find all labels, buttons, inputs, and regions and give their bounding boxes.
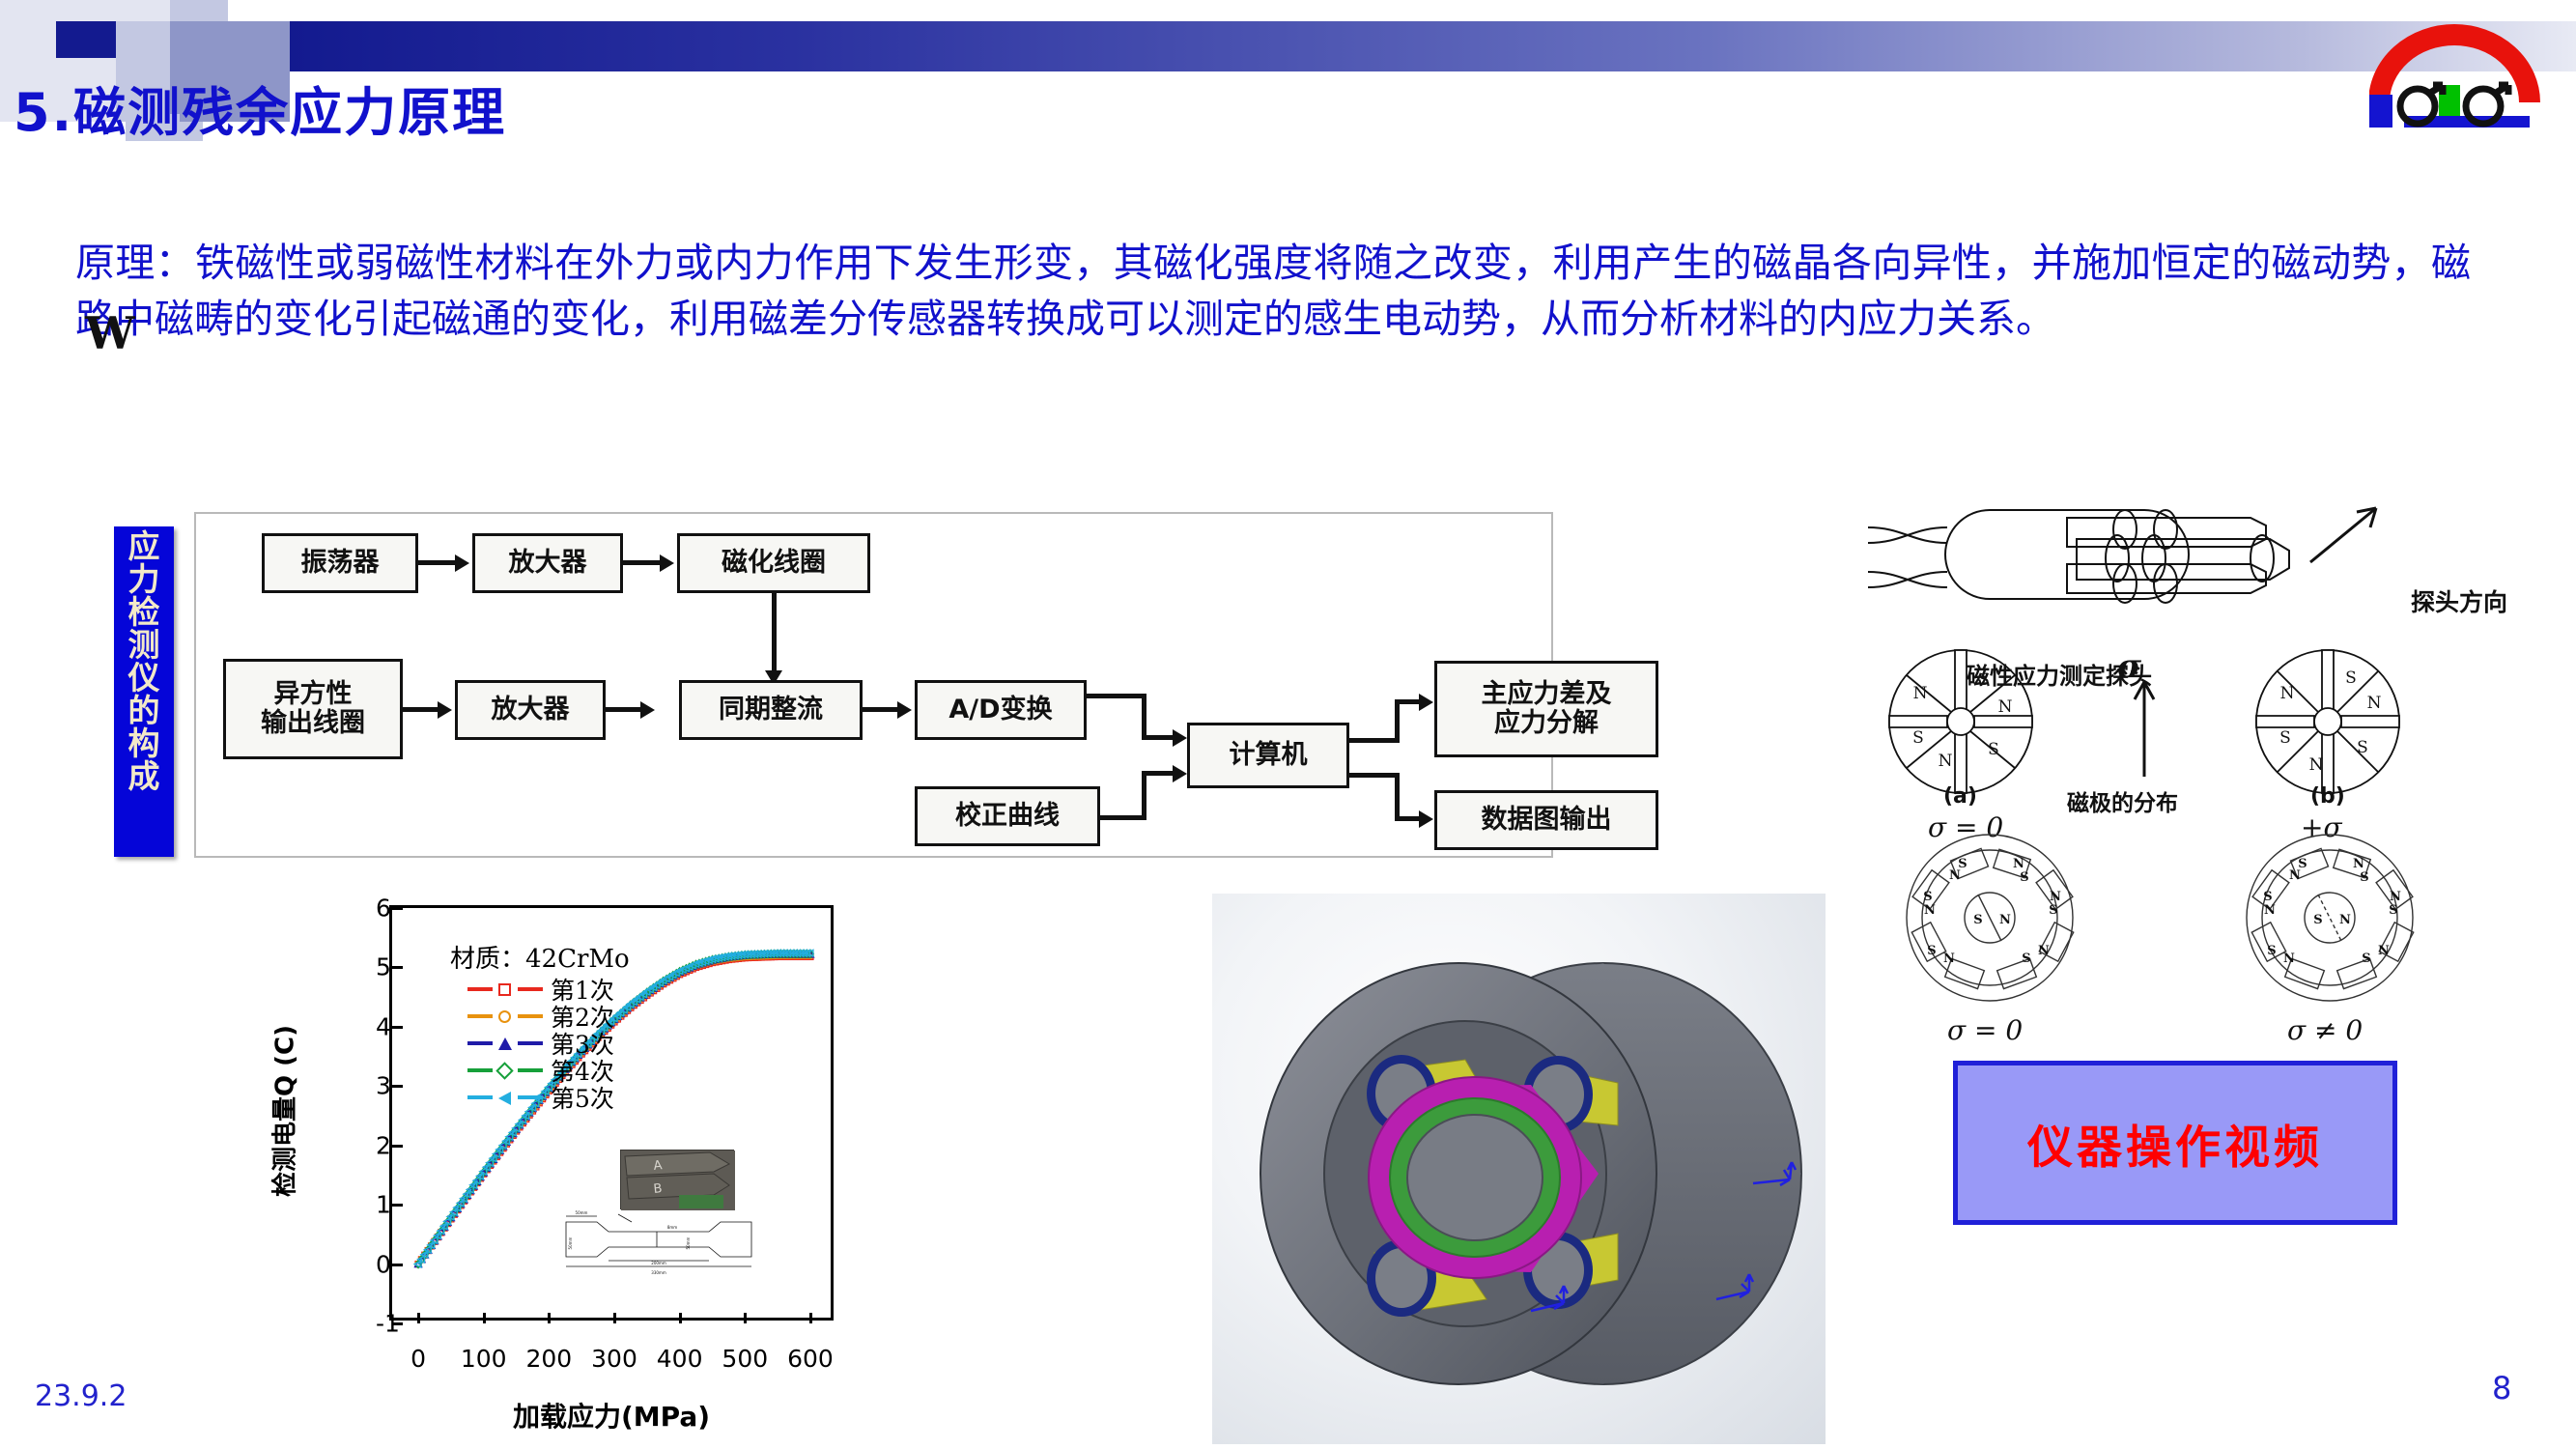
side-label-char-3: 测 xyxy=(114,629,174,662)
specimen-photo-svg: A B xyxy=(621,1151,735,1210)
connector-comp-to-output-v xyxy=(1395,773,1400,821)
arrow-amp2-to-rectifier xyxy=(640,701,655,719)
legend-key-2 xyxy=(467,1009,543,1023)
connector-amp1-to-coil xyxy=(623,560,662,565)
chart-y-tick-mark xyxy=(392,966,403,969)
footer-page-number: 8 xyxy=(2492,1370,2511,1406)
svg-text:N: N xyxy=(1924,903,1936,918)
side-label-char-0: 应 xyxy=(114,530,174,563)
svg-text:S: S xyxy=(2313,913,2322,927)
block-magnetizing-coil: 磁化线圈 xyxy=(677,533,870,593)
legend-marker-left-triangle-icon xyxy=(498,1092,511,1105)
magnetic-probe-illustrations: NSN SNS NSN SNS 探头方向 磁性应力测定探头 σ 磁极的分布 (a… xyxy=(1835,475,2569,862)
legend-key-1 xyxy=(467,982,543,996)
sigma-symbol: σ xyxy=(2117,647,2141,686)
connector-amp2-to-rectifier xyxy=(606,707,642,712)
svg-text:N: N xyxy=(2013,857,2024,871)
svg-text:N: N xyxy=(1943,952,1955,966)
instrument-block-diagram: 振荡器 放大器 磁化线圈 异方性 输出线圈 放大器 同期整流 A/D变换 校正曲… xyxy=(114,512,1553,869)
pole-distribution-label: 磁极的分布 xyxy=(2067,784,2178,817)
svg-text:200mm: 200mm xyxy=(651,1261,666,1265)
ring-magnet-right: SN NS SN NS SN NS SN xyxy=(2247,835,2414,1001)
block-calibration-curve: 校正曲线 xyxy=(915,786,1100,846)
legend-dash-right-3 xyxy=(518,1041,543,1045)
svg-text:N: N xyxy=(2339,913,2351,927)
chart-x-tick-label: 200 xyxy=(525,1345,572,1373)
connector-ad-elbow-h xyxy=(1087,694,1146,698)
body-paragraph: 原理：铁磁性或弱磁性材料在外力或内力作用下发生形变，其磁化强度将随之改变，利用产… xyxy=(75,235,2471,347)
chart-plot-area: 材质：42CrMo 第1次 第2次 xyxy=(389,905,834,1321)
svg-text:S: S xyxy=(2360,870,2368,885)
header-square-mid-2 xyxy=(170,21,290,71)
block-data-output: 数据图输出 xyxy=(1434,790,1658,850)
svg-text:S: S xyxy=(2345,668,2357,688)
coupling-model-svg xyxy=(1212,894,1826,1444)
chart-x-tick-label: 600 xyxy=(787,1345,834,1373)
connector-comp-to-output-h xyxy=(1349,773,1400,778)
svg-text:N: N xyxy=(1949,868,1961,883)
legend-dash-left-1 xyxy=(467,987,493,991)
diagram-b-tag: (b) xyxy=(2310,784,2345,809)
chart-x-axis-title: 加载应力(MPa) xyxy=(513,1396,710,1435)
legend-dash-left-4 xyxy=(467,1068,493,1072)
chart-x-tick-mark xyxy=(417,1313,420,1323)
svg-text:N: N xyxy=(1998,697,2013,717)
block-anisotropy-output-coil: 异方性 输出线圈 xyxy=(223,659,403,759)
legend-dash-right-5 xyxy=(518,1095,543,1099)
specimen-drawing-svg: 50mm 8mm 200mm 330mm 50mm 50mm xyxy=(564,1210,753,1282)
chart-x-tick-label: 0 xyxy=(410,1345,426,1373)
chart-y-tick-mark xyxy=(392,1085,403,1088)
svg-text:S: S xyxy=(1973,913,1982,927)
side-label-char-2: 检 xyxy=(114,596,174,629)
svg-text:N: N xyxy=(2309,755,2324,775)
legend-dash-left-2 xyxy=(467,1014,493,1018)
legend-marker-circle-icon xyxy=(498,1010,511,1023)
instrument-video-button[interactable]: 仪器操作视频 xyxy=(1953,1061,2397,1225)
svg-text:S: S xyxy=(2389,903,2397,918)
legend-marker-diamond-icon xyxy=(495,1062,513,1079)
connector-cal-elbow-v xyxy=(1142,771,1146,820)
ring-magnet-illustrations: SN NS SN NS SN NS SN xyxy=(1835,831,2569,1063)
svg-text:N: N xyxy=(2390,890,2401,904)
svg-text:N: N xyxy=(2367,694,2382,713)
connector-comp-to-stress-h2 xyxy=(1395,699,1422,704)
arrow-ad-to-computer xyxy=(1173,729,1187,747)
ring-magnet-svg: SN NS SN NS SN NS SN xyxy=(1835,831,2569,1063)
chart-x-tick-mark xyxy=(613,1313,616,1323)
svg-text:N: N xyxy=(2280,684,2295,703)
legend-dash-left-5 xyxy=(467,1095,493,1099)
svg-text:N: N xyxy=(1999,913,2011,927)
connector-ad-to-computer xyxy=(1142,735,1175,740)
footer-date: 23.9.2 xyxy=(35,1379,127,1413)
svg-text:B: B xyxy=(653,1181,663,1197)
chart-x-tick-label: 500 xyxy=(722,1345,768,1373)
svg-text:S: S xyxy=(2267,944,2276,958)
svg-text:N: N xyxy=(2378,944,2390,958)
arrow-amp1-to-coil xyxy=(660,554,674,572)
chart-x-tick-mark xyxy=(679,1313,682,1323)
connector-coil2-to-amp2 xyxy=(403,707,439,712)
legend-key-4 xyxy=(467,1064,543,1077)
svg-text:N: N xyxy=(1913,684,1928,703)
chart-legend: 第1次 第2次 第3次 xyxy=(467,976,614,1111)
svg-text:A: A xyxy=(653,1158,664,1174)
chart-y-tick-mark xyxy=(392,1145,403,1148)
instrument-video-label: 仪器操作视频 xyxy=(2027,1110,2323,1177)
chart-x-tick-mark xyxy=(483,1313,486,1323)
side-label-char-4: 仪 xyxy=(114,662,174,695)
header-gradient-bar xyxy=(290,21,2576,71)
chart-y-tick-mark xyxy=(392,1204,403,1207)
legend-dash-right-2 xyxy=(518,1014,543,1018)
block-diagram-frame: 振荡器 放大器 磁化线圈 异方性 输出线圈 放大器 同期整流 A/D变换 校正曲… xyxy=(194,512,1553,858)
arrow-cal-to-computer xyxy=(1173,765,1187,782)
block-diagram-side-label: 应 力 检 测 仪 的 构 成 xyxy=(114,526,174,857)
connector-comp-to-stress-h xyxy=(1349,738,1400,743)
svg-text:S: S xyxy=(1923,890,1932,904)
svg-text:N: N xyxy=(2050,890,2061,904)
university-logo xyxy=(2369,2,2562,128)
block-amplifier-2: 放大器 xyxy=(455,680,606,740)
arrow-comp-to-output xyxy=(1419,810,1433,828)
coupling-3d-model xyxy=(1212,894,1826,1444)
svg-text:N: N xyxy=(2283,952,2295,966)
svg-text:50mm: 50mm xyxy=(686,1236,691,1249)
arrow-rectifier-to-ad xyxy=(897,701,912,719)
svg-text:S: S xyxy=(2263,890,2272,904)
svg-text:330mm: 330mm xyxy=(651,1270,666,1275)
arrow-osc-to-amp1 xyxy=(455,554,469,572)
chart-x-tick-mark xyxy=(548,1313,551,1323)
ring-magnet-left: SN NS SN NS SN NS SN xyxy=(1907,835,2074,1001)
chart-y-axis-title: 检测电量Q (C) xyxy=(266,1025,301,1197)
connector-rectifier-to-ad xyxy=(863,707,899,712)
svg-text:S: S xyxy=(2279,728,2291,748)
arrow-coil2-to-amp2 xyxy=(438,701,452,719)
legend-dash-right-1 xyxy=(518,987,543,991)
svg-text:S: S xyxy=(1912,728,1924,748)
chart-x-tick-label: 300 xyxy=(591,1345,637,1373)
specimen-dimension-drawing: 50mm 8mm 200mm 330mm 50mm 50mm xyxy=(564,1210,753,1282)
legend-marker-square-icon xyxy=(498,983,511,996)
legend-key-5 xyxy=(467,1091,543,1104)
load-stress-chart: 材质：42CrMo 第1次 第2次 xyxy=(275,894,942,1444)
connector-osc-to-amp1 xyxy=(418,560,457,565)
side-label-char-1: 力 xyxy=(114,563,174,596)
svg-text:S: S xyxy=(2022,952,2030,966)
specimen-photo-inset: A B xyxy=(620,1150,734,1209)
block-principal-stress-decomposition: 主应力差及 应力分解 xyxy=(1434,661,1658,757)
arrow-comp-to-stress xyxy=(1419,694,1433,711)
svg-text:N: N xyxy=(2264,903,2276,918)
side-label-char-7: 成 xyxy=(114,760,174,793)
pole-rosette-b: NSN SNS xyxy=(2256,650,2399,793)
svg-text:N: N xyxy=(2353,857,2364,871)
svg-text:N: N xyxy=(1939,752,1953,771)
header-square-light-2 xyxy=(116,21,170,71)
block-ad-converter: A/D变换 xyxy=(915,680,1087,740)
svg-text:S: S xyxy=(1927,944,1936,958)
svg-text:50mm: 50mm xyxy=(576,1210,588,1215)
svg-text:S: S xyxy=(2049,903,2057,918)
page-title: 5.磁测残余应力原理 xyxy=(14,70,506,146)
block-amplifier-1: 放大器 xyxy=(472,533,623,593)
side-label-char-5: 的 xyxy=(114,695,174,727)
legend-key-3 xyxy=(467,1037,543,1050)
block-sync-rectifier: 同期整流 xyxy=(679,680,863,740)
block-oscillator: 振荡器 xyxy=(262,533,418,593)
chart-y-tick-mark xyxy=(392,1264,403,1266)
legend-label-5: 第5次 xyxy=(551,1080,614,1115)
legend-item-5: 第5次 xyxy=(467,1084,614,1111)
svg-text:50mm: 50mm xyxy=(568,1236,573,1249)
connector-comp-to-output-h2 xyxy=(1395,816,1422,821)
chart-y-tick-mark xyxy=(392,1026,403,1029)
chart-y-tick-mark xyxy=(392,907,403,910)
connector-cal-elbow-h xyxy=(1100,815,1146,820)
diagram-d-condition: σ ≠ 0 xyxy=(2287,1014,2363,1046)
legend-dash-right-4 xyxy=(518,1068,543,1072)
sigma-arrow xyxy=(2135,682,2154,777)
svg-text:S: S xyxy=(2020,870,2028,885)
block-computer: 计算机 xyxy=(1187,723,1349,788)
bullet-marker: W xyxy=(85,307,135,359)
connector-cal-to-computer xyxy=(1142,771,1175,776)
diagram-c-condition: σ = 0 xyxy=(1947,1014,2023,1046)
connector-ad-elbow-v xyxy=(1142,694,1146,740)
legend-marker-triangle-icon xyxy=(498,1037,512,1050)
chart-x-tick-label: 400 xyxy=(657,1345,703,1373)
svg-text:S: S xyxy=(1988,740,1999,759)
svg-text:N: N xyxy=(2289,868,2301,883)
svg-text:N: N xyxy=(2038,944,2050,958)
legend-dash-left-3 xyxy=(467,1041,493,1045)
connector-comp-to-stress-v xyxy=(1395,699,1400,743)
side-label-char-6: 构 xyxy=(114,727,174,760)
model-hub-bore xyxy=(1407,1115,1543,1240)
chart-y-tick-mark xyxy=(392,1322,403,1325)
svg-text:S: S xyxy=(2362,952,2370,966)
probe-direction-label: 探头方向 xyxy=(2411,583,2507,618)
chart-material-note: 材质：42CrMo xyxy=(450,939,630,975)
logo-svg xyxy=(2369,2,2562,128)
svg-text:8mm: 8mm xyxy=(667,1225,677,1230)
diagram-a-tag: (a) xyxy=(1943,784,1977,809)
svg-text:S: S xyxy=(2357,738,2368,757)
chart-x-tick-label: 100 xyxy=(461,1345,507,1373)
chart-x-tick-mark xyxy=(809,1313,812,1323)
chart-x-tick-mark xyxy=(744,1313,747,1323)
connector-coil-to-rectifier xyxy=(772,593,777,674)
logo-blue-block-left xyxy=(2369,95,2392,128)
